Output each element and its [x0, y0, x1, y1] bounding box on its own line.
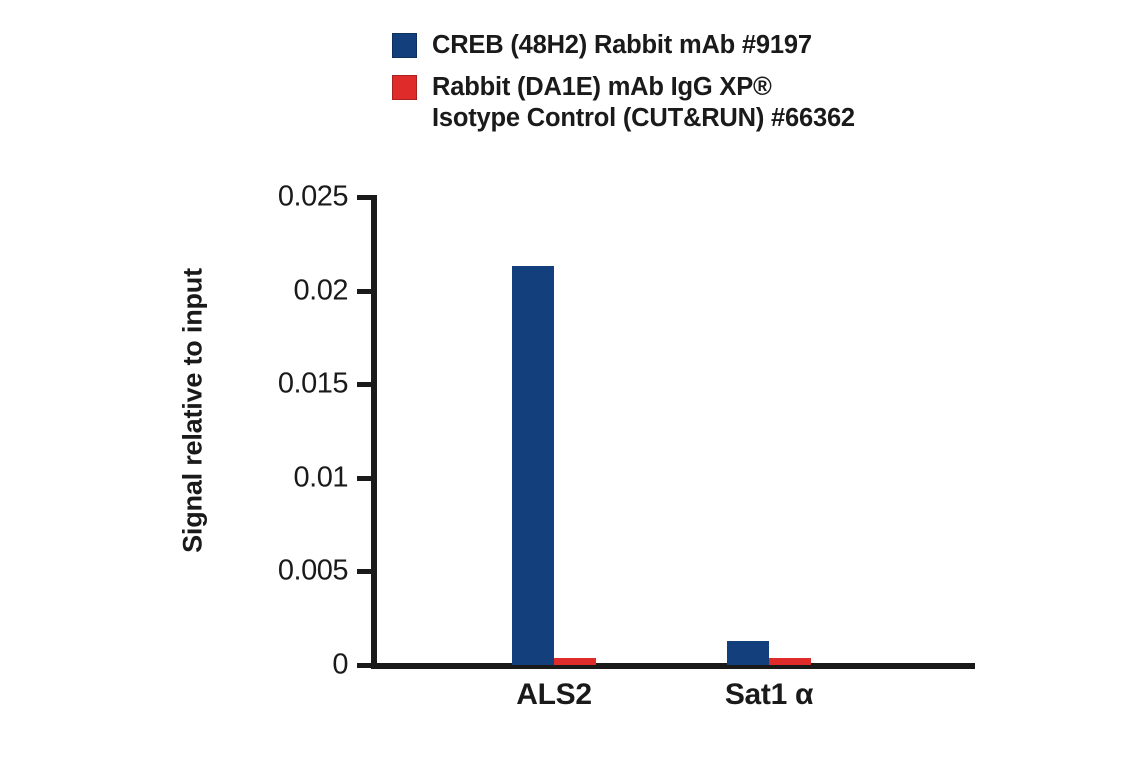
- y-tick-label-1: 0.02: [228, 274, 348, 307]
- y-axis-tick-labels: 0.0250.020.0150.010.0050: [228, 0, 348, 768]
- y-tick-label-3: 0.01: [228, 461, 348, 494]
- y-axis-title: Signal relative to input: [178, 196, 209, 626]
- y-tick-2: [357, 382, 373, 387]
- y-tick-label-5: 0: [228, 649, 348, 682]
- x-axis-line: [371, 663, 975, 669]
- bar-1-1: [769, 658, 811, 665]
- y-axis-line: [371, 195, 377, 669]
- bar-chart-plot: Signal relative to input 0.0250.020.0150…: [0, 0, 1141, 768]
- x-category-label-1: Sat1 α: [689, 678, 849, 712]
- bar-0-0: [512, 266, 554, 665]
- y-tick-3: [357, 476, 373, 481]
- x-category-label-0: ALS2: [474, 678, 634, 712]
- y-tick-0: [357, 195, 373, 200]
- y-tick-5: [357, 663, 373, 668]
- y-tick-label-4: 0.005: [228, 555, 348, 588]
- bar-0-1: [554, 658, 596, 665]
- bar-1-0: [727, 641, 769, 665]
- y-tick-label-0: 0.025: [228, 181, 348, 214]
- y-tick-label-2: 0.015: [228, 368, 348, 401]
- y-tick-4: [357, 569, 373, 574]
- y-tick-1: [357, 289, 373, 294]
